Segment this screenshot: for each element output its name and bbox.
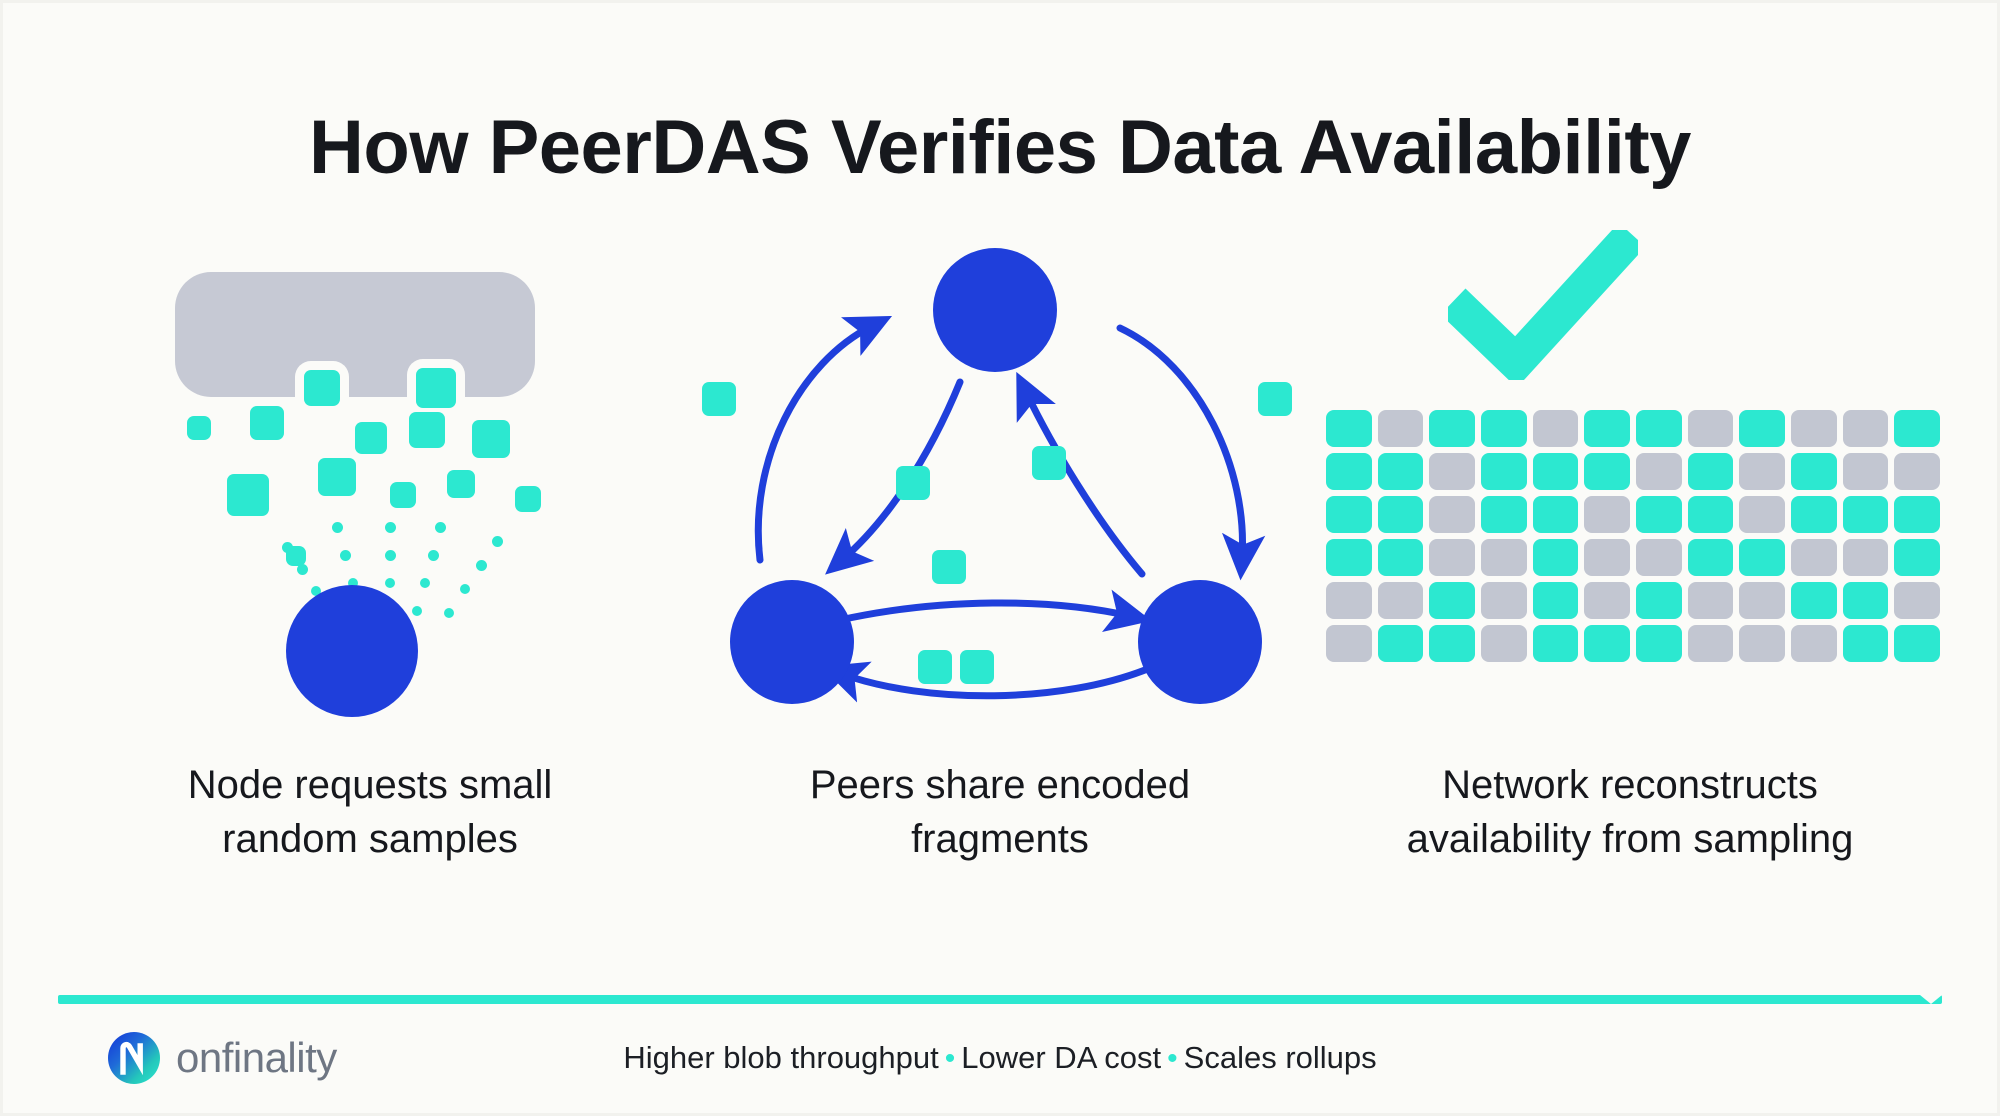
grid-cell (1791, 582, 1837, 619)
infographic-canvas: How PeerDAS Verifies Data Availability (0, 0, 2000, 1116)
trail-dot (476, 560, 487, 571)
grid-cell (1584, 625, 1630, 662)
panel-2-illustration (690, 230, 1310, 750)
grid-cell (1378, 539, 1424, 576)
grid-cell (1843, 582, 1889, 619)
footer-divider (58, 995, 1942, 1004)
trail-dot (492, 536, 503, 547)
tagline-item: Lower DA cost (961, 1040, 1161, 1075)
grid-cell (1688, 453, 1734, 490)
grid-cell (1843, 625, 1889, 662)
grid-cell (1429, 410, 1475, 447)
grid-cell (1688, 539, 1734, 576)
grid-cell (1688, 410, 1734, 447)
panel-2-caption: Peers share encoded fragments (690, 758, 1310, 866)
grid-cell (1739, 410, 1785, 447)
fragment-square (1032, 446, 1066, 480)
panel-3-caption: Network reconstructs availability from s… (1320, 758, 1940, 866)
grid-cell (1584, 496, 1630, 533)
grid-cell (1843, 496, 1889, 533)
grid-cell (1326, 453, 1372, 490)
data-blob (175, 272, 535, 397)
grid-cell (1791, 496, 1837, 533)
footer-tagline: Higher blob throughput•Lower DA cost•Sca… (0, 1038, 2000, 1079)
grid-cell (1843, 410, 1889, 447)
fragment-square (1258, 382, 1292, 416)
grid-cell (1533, 582, 1579, 619)
trail-dot (412, 606, 422, 616)
grid-cell (1378, 410, 1424, 447)
grid-cell (1326, 410, 1372, 447)
panel-1-caption-line-1: Node requests small (60, 758, 680, 812)
grid-cell (1378, 582, 1424, 619)
grid-cell (1791, 539, 1837, 576)
grid-cell (1739, 625, 1785, 662)
grid-cell (1791, 453, 1837, 490)
grid-cell (1636, 453, 1682, 490)
panel-sampling-request: Node requests small random samples (60, 230, 680, 890)
grid-cell (1481, 410, 1527, 447)
grid-cell (1739, 582, 1785, 619)
grid-cell (1429, 625, 1475, 662)
grid-cell (1739, 453, 1785, 490)
sample-square (390, 482, 416, 508)
tagline-item: Scales rollups (1184, 1040, 1377, 1075)
tagline-item: Higher blob throughput (623, 1040, 938, 1075)
sample-square (355, 422, 387, 454)
grid-cell (1429, 453, 1475, 490)
fragment-square (896, 466, 930, 500)
grid-cell (1688, 625, 1734, 662)
grid-cell (1378, 625, 1424, 662)
grid-cell (1636, 496, 1682, 533)
tagline-bullet-icon: • (1161, 1042, 1184, 1075)
panel-3-caption-line-2: availability from sampling (1320, 812, 1940, 866)
panel-3-caption-line-1: Network reconstructs (1320, 758, 1940, 812)
grid-cell (1894, 539, 1940, 576)
sample-square (416, 368, 456, 408)
grid-cell (1481, 453, 1527, 490)
sample-square (515, 486, 541, 512)
peer-node-bottom-left (730, 580, 854, 704)
trail-dot (385, 578, 395, 588)
sample-square (318, 458, 356, 496)
trail-dot (332, 522, 343, 533)
grid-cell (1584, 453, 1630, 490)
grid-cell (1481, 582, 1527, 619)
grid-cell (1533, 625, 1579, 662)
availability-sample-grid (1326, 410, 1940, 662)
grid-cell (1894, 496, 1940, 533)
footer: onfinality Higher blob throughput•Lower … (0, 1030, 2000, 1100)
fragment-square (932, 550, 966, 584)
trail-dot (385, 550, 396, 561)
grid-cell (1533, 496, 1579, 533)
grid-cell (1326, 582, 1372, 619)
grid-cell (1791, 410, 1837, 447)
panel-1-caption-line-2: random samples (60, 812, 680, 866)
panel-reconstruction: Network reconstructs availability from s… (1320, 230, 1940, 890)
page-title: How PeerDAS Verifies Data Availability (0, 103, 2000, 193)
arrow-right-to-top (1026, 392, 1142, 574)
grid-cell (1584, 410, 1630, 447)
sample-square (250, 406, 284, 440)
grid-cell (1688, 582, 1734, 619)
panel-2-caption-line-2: fragments (690, 812, 1310, 866)
sample-square (304, 370, 340, 406)
grid-cell (1326, 496, 1372, 533)
peer-node-top (933, 248, 1057, 372)
fragment-square (702, 382, 736, 416)
panel-2-caption-line-1: Peers share encoded (690, 758, 1310, 812)
grid-cell (1326, 539, 1372, 576)
arrow-right-to-left (842, 668, 1150, 696)
trail-dot (428, 550, 439, 561)
grid-cell (1326, 625, 1372, 662)
grid-cell (1739, 496, 1785, 533)
grid-cell (1636, 582, 1682, 619)
tagline-bullet-icon: • (939, 1042, 962, 1075)
grid-cell (1894, 453, 1940, 490)
grid-cell (1894, 582, 1940, 619)
grid-cell (1584, 539, 1630, 576)
peer-triangle-graph (690, 230, 1310, 750)
grid-cell (1636, 539, 1682, 576)
grid-cell (1429, 496, 1475, 533)
trail-dot (435, 522, 446, 533)
availability-confirmed-check-icon (1448, 230, 1638, 380)
grid-cell (1378, 496, 1424, 533)
grid-cell (1533, 410, 1579, 447)
grid-cell (1481, 539, 1527, 576)
sample-square (447, 470, 475, 498)
trail-dot (460, 584, 470, 594)
grid-cell (1843, 453, 1889, 490)
grid-cell (1739, 539, 1785, 576)
panel-3-illustration (1320, 230, 1940, 750)
grid-cell (1481, 625, 1527, 662)
trail-dot (385, 522, 396, 533)
sample-square (472, 420, 510, 458)
panel-1-illustration (60, 230, 680, 750)
grid-cell (1533, 539, 1579, 576)
trail-dot (340, 550, 351, 561)
grid-cell (1894, 625, 1940, 662)
grid-cell (1791, 625, 1837, 662)
grid-cell (1584, 582, 1630, 619)
grid-cell (1481, 496, 1527, 533)
trail-dot (444, 608, 454, 618)
sampling-node (286, 585, 418, 717)
trail-dot (420, 578, 430, 588)
panel-peer-exchange: Peers share encoded fragments (690, 230, 1310, 890)
grid-cell (1533, 453, 1579, 490)
grid-cell (1378, 453, 1424, 490)
trail-dot (297, 564, 308, 575)
grid-cell (1688, 496, 1734, 533)
sample-square (187, 416, 211, 440)
arrow-right-down (1120, 328, 1243, 558)
grid-cell (1894, 410, 1940, 447)
fragment-square (918, 650, 952, 684)
grid-cell (1636, 625, 1682, 662)
sample-square (409, 412, 445, 448)
grid-cell (1429, 582, 1475, 619)
grid-cell (1429, 539, 1475, 576)
arrow-left-up (758, 326, 872, 560)
peer-node-bottom-right (1138, 580, 1262, 704)
sample-square (227, 474, 269, 516)
panel-1-caption: Node requests small random samples (60, 758, 680, 866)
arrow-left-to-right (840, 603, 1130, 620)
trail-dot (282, 542, 293, 553)
grid-cell (1843, 539, 1889, 576)
grid-cell (1636, 410, 1682, 447)
fragment-square (960, 650, 994, 684)
